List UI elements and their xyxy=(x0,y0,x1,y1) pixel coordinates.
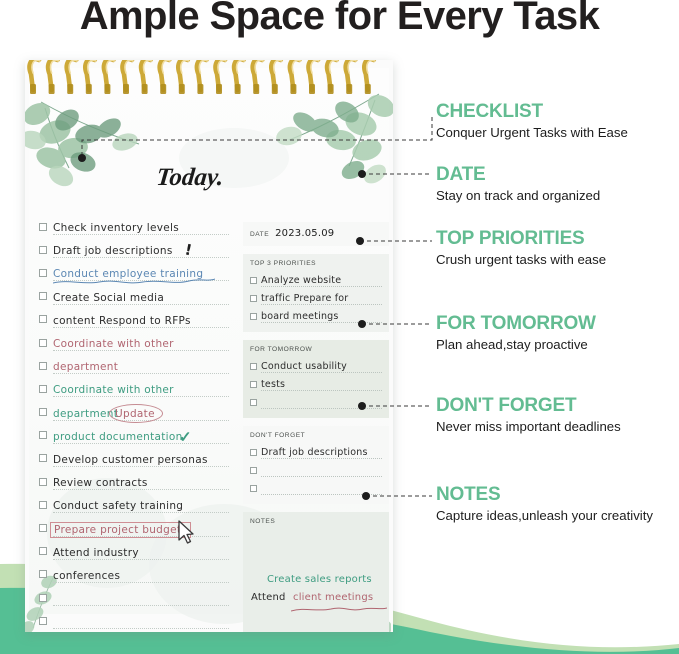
annotation-checklist-sub: Conquer Urgent Tasks with Ease xyxy=(436,125,628,141)
annotation-for-tomorrow-sub: Plan ahead,stay proactive xyxy=(436,337,596,353)
annotation-top-priorities: TOP PRIORITIES Crush urgent tasks with e… xyxy=(436,228,606,268)
annotation-date-heading: DATE xyxy=(436,164,600,186)
annotation-top-priorities-sub: Crush urgent tasks with ease xyxy=(436,252,606,268)
annotation-for-tomorrow-heading: FOR TOMORROW xyxy=(436,313,596,335)
annotation-checklist: CHECKLIST Conquer Urgent Tasks with Ease xyxy=(436,101,628,141)
annotation-date: DATE Stay on track and organized xyxy=(436,164,600,204)
annotation-for-tomorrow: FOR TOMORROW Plan ahead,stay proactive xyxy=(436,313,596,353)
annotation-notes-heading: NOTES xyxy=(436,484,656,506)
annotation-checklist-heading: CHECKLIST xyxy=(436,101,628,123)
annotation-dont-forget-heading: DON'T FORGET xyxy=(436,395,621,417)
annotation-date-sub: Stay on track and organized xyxy=(436,188,600,204)
annotation-notes: NOTES Capture ideas,unleash your creativ… xyxy=(436,484,656,524)
annotation-dont-forget-sub: Never miss important deadlines xyxy=(436,419,621,435)
annotation-dont-forget: DON'T FORGET Never miss important deadli… xyxy=(436,395,621,435)
annotation-top-priorities-heading: TOP PRIORITIES xyxy=(436,228,606,250)
annotation-notes-sub: Capture ideas,unleash your creativity xyxy=(436,508,656,524)
